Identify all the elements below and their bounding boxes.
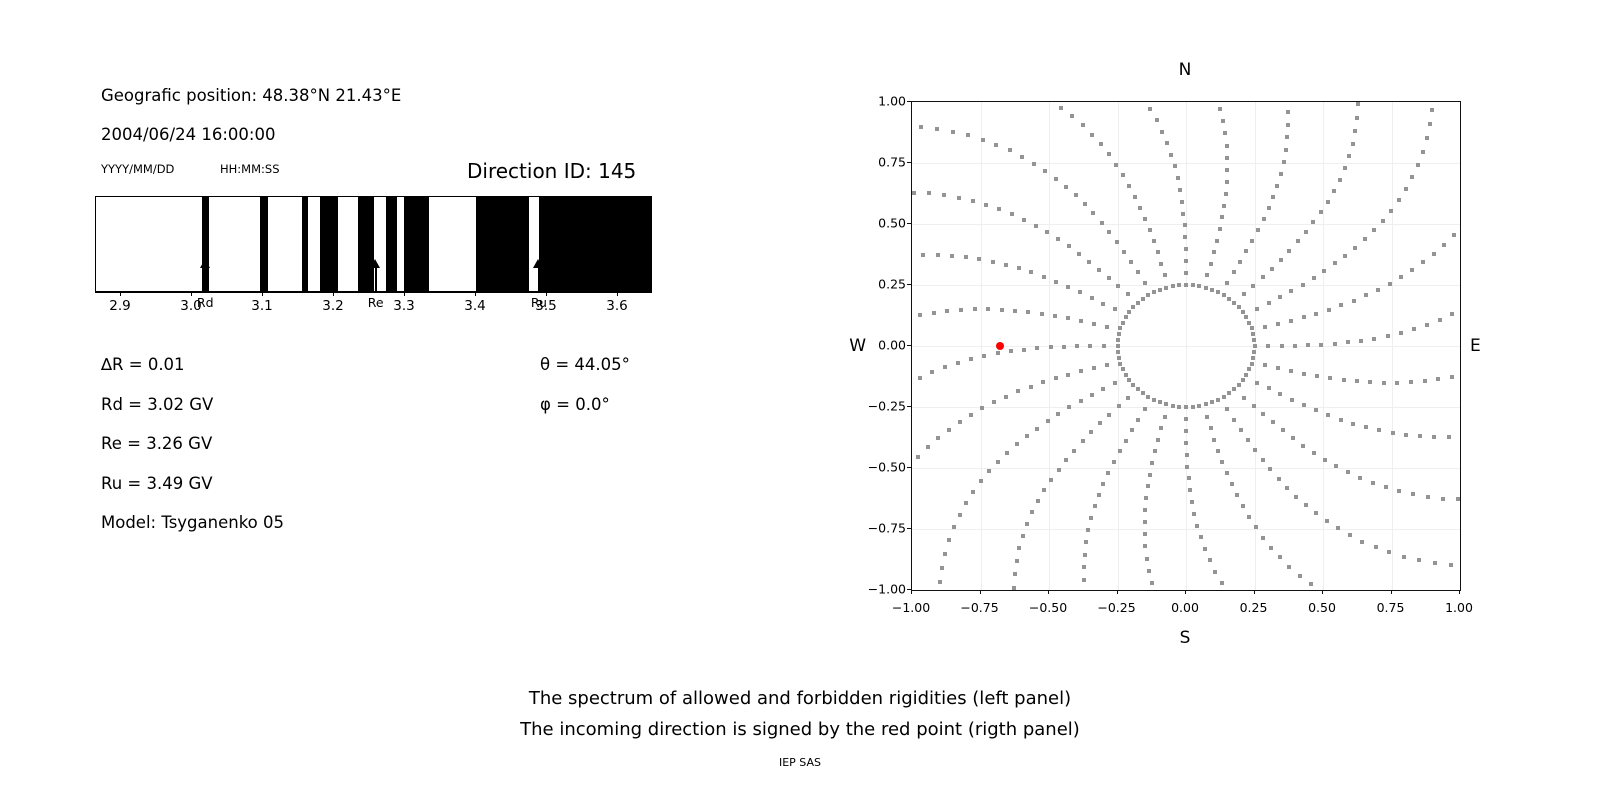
- direction-dot: [1025, 434, 1029, 438]
- direction-dot: [956, 361, 960, 365]
- x-axis-tick-mark: [1048, 590, 1049, 594]
- direction-dot: [1333, 342, 1337, 346]
- direction-dot: [1218, 107, 1222, 111]
- direction-dot: [1062, 345, 1066, 349]
- direction-dot: [947, 428, 951, 432]
- direction-dot: [1278, 555, 1282, 559]
- direction-dot: [1143, 281, 1147, 285]
- direction-dot: [1143, 508, 1147, 512]
- direction-dot: [1421, 260, 1425, 264]
- direction-dot: [1388, 282, 1392, 286]
- x-axis-tick-label: −0.75: [960, 600, 998, 615]
- direction-dot: [1364, 293, 1368, 297]
- direction-dot: [1389, 209, 1393, 213]
- direction-dot: [1266, 344, 1270, 348]
- direction-dot: [950, 254, 954, 258]
- direction-dot: [1280, 344, 1284, 348]
- direction-dot: [1255, 381, 1259, 385]
- direction-dot: [1426, 495, 1430, 499]
- direction-dot: [969, 413, 973, 417]
- direction-dot: [1121, 321, 1125, 325]
- direction-dot: [1036, 499, 1040, 503]
- rigidity-spectrum-panel: Geografic position: 48.38°N 21.43°E 2004…: [0, 0, 760, 660]
- y-axis-tick-mark: [907, 345, 911, 346]
- direction-dot: [1129, 260, 1133, 264]
- direction-dot: [1450, 375, 1454, 379]
- direction-dot: [1141, 297, 1145, 301]
- direction-dot: [1131, 305, 1135, 309]
- direction-dot: [1136, 301, 1140, 305]
- direction-dot: [1277, 477, 1281, 481]
- caption-line-1: The spectrum of allowed and forbidden ri…: [0, 688, 1600, 709]
- direction-dot: [1250, 326, 1254, 330]
- direction-dot: [1432, 435, 1436, 439]
- direction-dot: [1360, 540, 1364, 544]
- direction-dot: [935, 127, 939, 131]
- direction-dot: [1107, 152, 1111, 156]
- direction-dot: [1261, 458, 1265, 462]
- direction-dot: [1397, 489, 1401, 493]
- direction-dot: [1213, 570, 1217, 574]
- direction-dot: [1425, 323, 1429, 327]
- footer-label: IEP SAS: [0, 756, 1600, 769]
- direction-dot: [1136, 387, 1140, 391]
- direction-dot: [1079, 319, 1083, 323]
- direction-dot: [1348, 533, 1352, 537]
- direction-dot: [1195, 524, 1199, 528]
- direction-dot: [1049, 345, 1053, 349]
- direction-dot: [1205, 273, 1209, 277]
- direction-dot: [1009, 349, 1013, 353]
- x-axis-tick-label: 0.00: [1171, 600, 1199, 615]
- direction-dot: [1246, 438, 1250, 442]
- direction-dot: [936, 253, 940, 257]
- direction-dot: [1371, 481, 1375, 485]
- direction-dot: [1376, 288, 1380, 292]
- direction-dot: [1241, 310, 1245, 314]
- forbidden-band: [320, 197, 338, 291]
- direction-dot: [1293, 344, 1297, 348]
- direction-dot: [1116, 284, 1120, 288]
- direction-dot: [1438, 318, 1442, 322]
- time-format-hint: HH:MM:SS: [220, 162, 280, 176]
- direction-dot: [1220, 460, 1224, 464]
- direction-dot: [1263, 325, 1267, 329]
- direction-dot: [1430, 108, 1434, 112]
- direction-dot: [1053, 314, 1057, 318]
- direction-dot: [1066, 285, 1070, 289]
- direction-dot: [1215, 239, 1219, 243]
- direction-dot: [1112, 460, 1116, 464]
- y-axis-tick-mark: [907, 162, 911, 163]
- spectrum-bar-container: [95, 196, 652, 292]
- direction-dot: [1241, 504, 1245, 508]
- direction-dot: [952, 525, 956, 529]
- param-phi: φ = 0.0°: [540, 395, 610, 414]
- direction-dot: [1121, 367, 1125, 371]
- direction-dot: [1351, 422, 1355, 426]
- direction-dot: [1079, 369, 1083, 373]
- direction-dot: [1148, 473, 1152, 477]
- direction-dot: [1404, 433, 1408, 437]
- direction-dot: [1126, 292, 1130, 296]
- direction-dot: [1281, 428, 1285, 432]
- direction-dot: [1268, 467, 1272, 471]
- direction-dot: [1382, 381, 1386, 385]
- x-axis-tick-label: −0.50: [1029, 600, 1067, 615]
- direction-dot: [1368, 380, 1372, 384]
- direction-dot: [1304, 503, 1308, 507]
- direction-dot: [1343, 166, 1347, 170]
- direction-dot: [1363, 237, 1367, 241]
- direction-dot: [1169, 153, 1173, 157]
- direction-dot: [1054, 280, 1058, 284]
- direction-dot: [1181, 212, 1185, 216]
- direction-dot: [1081, 439, 1085, 443]
- direction-dot: [1296, 239, 1300, 243]
- direction-dot: [1255, 307, 1259, 311]
- x-axis-tick-label: −1.00: [892, 600, 930, 615]
- param-delta-r: ∆R = 0.01: [101, 355, 185, 374]
- direction-dot: [1106, 471, 1110, 475]
- y-axis-tick-label: 1.00: [878, 94, 906, 109]
- direction-dot: [1176, 176, 1180, 180]
- direction-dot: [1117, 404, 1121, 408]
- direction-dot: [997, 207, 1001, 211]
- direction-dot: [1101, 482, 1105, 486]
- direction-dot: [1284, 148, 1288, 152]
- direction-dot: [1197, 404, 1201, 408]
- direction-dot: [1339, 418, 1343, 422]
- direction-dot: [1192, 512, 1196, 516]
- direction-dot: [943, 365, 947, 369]
- direction-dot: [1278, 392, 1282, 396]
- direction-dot: [1359, 339, 1363, 343]
- direction-dot: [1210, 288, 1214, 292]
- direction-dot: [1092, 366, 1096, 370]
- direction-dot: [1235, 493, 1239, 497]
- rigidity-marker-label: Re: [368, 295, 384, 310]
- direction-dot: [1143, 407, 1147, 411]
- forbidden-band: [404, 197, 414, 291]
- direction-dot: [1118, 326, 1122, 330]
- direction-dot: [1232, 270, 1236, 274]
- direction-dot: [1084, 540, 1088, 544]
- direction-dot: [1083, 202, 1087, 206]
- direction-dot: [1225, 281, 1229, 285]
- direction-dot: [1131, 383, 1135, 387]
- direction-dot: [1244, 315, 1248, 319]
- direction-dot: [1285, 486, 1289, 490]
- direction-dot: [1012, 586, 1016, 590]
- direction-dot: [1410, 268, 1414, 272]
- direction-dot: [1399, 331, 1403, 335]
- direction-dot: [1279, 172, 1283, 176]
- direction-dot: [1171, 404, 1175, 408]
- direction-dot: [1143, 532, 1147, 536]
- direction-dot: [1090, 393, 1094, 397]
- direction-dot: [1333, 261, 1337, 265]
- direction-dot: [1107, 413, 1111, 417]
- direction-dot: [1124, 315, 1128, 319]
- x-axis-tick-mark: [1459, 590, 1460, 594]
- direction-dot: [1402, 555, 1406, 559]
- direction-dot: [1208, 558, 1212, 562]
- direction-dot: [1136, 418, 1140, 422]
- direction-dot: [1355, 379, 1359, 383]
- direction-dot: [1035, 427, 1039, 431]
- direction-dot: [1034, 224, 1038, 228]
- direction-dot: [1197, 284, 1201, 288]
- direction-dot: [1428, 122, 1432, 126]
- direction-dot: [1347, 154, 1351, 158]
- direction-dot: [1216, 449, 1220, 453]
- direction-dot: [1306, 343, 1310, 347]
- direction-dot: [1374, 545, 1378, 549]
- param-ru: Ru = 3.49 GV: [101, 474, 213, 493]
- direction-dot: [1425, 136, 1429, 140]
- direction-dot: [1355, 116, 1359, 120]
- direction-dot: [1346, 470, 1350, 474]
- direction-dot: [1377, 428, 1381, 432]
- direction-dot: [943, 552, 947, 556]
- direction-dot: [1008, 148, 1012, 152]
- angle-list: θ = 44.05°φ = 0.0°: [540, 355, 740, 435]
- direction-dot: [1059, 106, 1063, 110]
- direction-dot: [1325, 519, 1329, 523]
- direction-dot: [1081, 123, 1085, 127]
- direction-dot: [1159, 262, 1163, 266]
- direction-dot: [1107, 230, 1111, 234]
- direction-dot: [1105, 363, 1109, 367]
- param-re: Re = 3.26 GV: [101, 434, 212, 453]
- direction-dot: [1314, 312, 1318, 316]
- direction-dot: [1075, 344, 1079, 348]
- direction-dot: [971, 199, 975, 203]
- direction-dot: [1242, 396, 1246, 400]
- direction-dot: [1115, 240, 1119, 244]
- direction-dot: [1099, 142, 1103, 146]
- direction-dot: [1209, 426, 1213, 430]
- direction-dot: [1250, 362, 1254, 366]
- direction-dot: [1232, 301, 1236, 305]
- direction-dot: [1452, 233, 1456, 237]
- direction-dot: [1188, 488, 1192, 492]
- direction-dot: [1029, 385, 1033, 389]
- y-axis-tick-label: −0.50: [868, 460, 906, 475]
- direction-dot: [1342, 378, 1346, 382]
- direction-dot: [1412, 327, 1416, 331]
- direction-dot: [1289, 319, 1293, 323]
- direction-dot: [1269, 546, 1273, 550]
- direction-dot: [1289, 289, 1293, 293]
- direction-dot: [1152, 239, 1156, 243]
- direction-dot: [1372, 337, 1376, 341]
- direction-dot: [1441, 497, 1445, 501]
- direction-dot: [1148, 228, 1152, 232]
- direction-dot: [1410, 175, 1414, 179]
- direction-dot: [1256, 228, 1260, 232]
- direction-dot: [1100, 221, 1104, 225]
- direction-dot: [1127, 378, 1131, 382]
- direction-dot: [1026, 310, 1030, 314]
- direction-dot: [1409, 380, 1413, 384]
- direction-dot: [1404, 187, 1408, 191]
- direction-dot: [951, 130, 955, 134]
- direction-dot: [991, 260, 995, 264]
- direction-dot: [981, 138, 985, 142]
- direction-dot: [1010, 212, 1014, 216]
- direction-dot: [1116, 344, 1120, 348]
- direction-dot: [1035, 346, 1039, 350]
- direction-dot: [1302, 403, 1306, 407]
- x-axis-tick-label: 0.75: [1377, 600, 1405, 615]
- direction-dot: [1090, 296, 1094, 300]
- direction-dot: [1090, 133, 1094, 137]
- direction-dot: [1326, 413, 1330, 417]
- y-axis-tick-label: 0.00: [878, 338, 906, 353]
- direction-dot: [1067, 244, 1071, 248]
- rigidity-spectrum-bar: [95, 196, 652, 292]
- x-axis-tick-mark: [1322, 590, 1323, 594]
- direction-dot: [1054, 177, 1058, 181]
- direction-dot: [1447, 435, 1451, 439]
- direction-dot: [1184, 259, 1188, 263]
- direction-dot: [1143, 217, 1147, 221]
- direction-dot: [926, 445, 930, 449]
- direction-dot: [1253, 448, 1257, 452]
- y-axis-tick-label: −0.75: [868, 521, 906, 536]
- direction-dot: [1302, 372, 1306, 376]
- direction-dot: [1311, 220, 1315, 224]
- direction-dot: [1456, 497, 1460, 501]
- direction-dot: [1141, 391, 1145, 395]
- x-axis-tick-label: 1.00: [1445, 600, 1473, 615]
- y-axis-tick-label: 0.50: [878, 216, 906, 231]
- y-axis-tick-mark: [907, 284, 911, 285]
- direction-dot: [1146, 484, 1150, 488]
- direction-dot: [1126, 396, 1130, 400]
- direction-dot: [1252, 338, 1256, 342]
- arrow-shaft: [538, 265, 539, 293]
- direction-dot: [996, 460, 1000, 464]
- direction-dot: [1212, 250, 1216, 254]
- direction-dot: [938, 580, 942, 584]
- direction-dot: [1252, 404, 1256, 408]
- direction-dot: [1241, 378, 1245, 382]
- direction-dot: [1222, 395, 1226, 399]
- direction-dot: [1150, 461, 1154, 465]
- direction-dot: [1171, 284, 1175, 288]
- direction-dot: [1097, 268, 1101, 272]
- x-axis-tick-mark: [1254, 590, 1255, 594]
- direction-dot: [986, 307, 990, 311]
- direction-dot: [1252, 350, 1256, 354]
- direction-dot: [1124, 439, 1128, 443]
- arrow-shaft: [375, 265, 376, 293]
- direction-dot: [1309, 582, 1313, 586]
- direction-dot: [1387, 550, 1391, 554]
- forbidden-band: [260, 197, 268, 291]
- direction-dot: [1116, 338, 1120, 342]
- direction-dot: [1261, 536, 1265, 540]
- direction-dot: [1334, 464, 1338, 468]
- direction-dot: [1020, 155, 1024, 159]
- direction-dot: [1173, 164, 1177, 168]
- arrival-direction-panel: −1.00−0.75−0.50−0.250.000.250.500.751.00…: [830, 50, 1530, 650]
- direction-dot: [1199, 535, 1203, 539]
- direction-dot: [1222, 293, 1226, 297]
- direction-dot: [1221, 119, 1225, 123]
- direction-dot: [1049, 478, 1053, 482]
- direction-dot: [1022, 218, 1026, 222]
- direction-dot: [1191, 283, 1195, 287]
- direction-dot: [1433, 561, 1437, 565]
- direction-dot: [918, 313, 922, 317]
- direction-dot: [1251, 332, 1255, 336]
- direction-dot: [1177, 405, 1181, 409]
- direction-dot: [1304, 230, 1308, 234]
- direction-dot: [1423, 379, 1427, 383]
- direction-dot: [1346, 340, 1350, 344]
- x-axis-tick-mark: [1185, 590, 1186, 594]
- direction-dot: [1093, 504, 1097, 508]
- y-axis-tick-label: −1.00: [868, 582, 906, 597]
- direction-dot: [1356, 102, 1360, 106]
- direction-dot: [1066, 373, 1070, 377]
- direction-dot: [1114, 163, 1118, 167]
- direction-dot: [964, 255, 968, 259]
- direction-dot: [932, 311, 936, 315]
- direction-dot: [1220, 581, 1224, 585]
- direction-dot: [1102, 344, 1106, 348]
- direction-dot: [1155, 118, 1159, 122]
- direction-dot: [1323, 458, 1327, 462]
- direction-dot: [1326, 200, 1330, 204]
- direction-dot: [992, 400, 996, 404]
- direction-dot: [1225, 180, 1229, 184]
- direction-dot: [1097, 493, 1101, 497]
- direction-dot: [1180, 200, 1184, 204]
- direction-dot: [1279, 258, 1283, 262]
- direction-dot: [1183, 235, 1187, 239]
- direction-dot: [1087, 260, 1091, 264]
- spectrum-markers: RdReRu: [95, 292, 652, 352]
- direction-dot: [1301, 444, 1305, 448]
- direction-dot: [1223, 131, 1227, 135]
- direction-dot: [1312, 276, 1316, 280]
- arrow-shaft: [205, 265, 206, 293]
- direction-dot: [958, 420, 962, 424]
- direction-dot: [1287, 249, 1291, 253]
- direction-dot: [1056, 412, 1060, 416]
- forbidden-band: [539, 197, 652, 291]
- direction-dot: [1118, 449, 1122, 453]
- direction-dot: [1225, 168, 1229, 172]
- direction-dot: [1077, 252, 1081, 256]
- direction-dot: [1156, 250, 1160, 254]
- direction-dot: [1101, 387, 1105, 391]
- direction-dot: [1227, 391, 1231, 395]
- direction-dot: [1046, 419, 1050, 423]
- forbidden-band: [386, 197, 397, 291]
- direction-dot: [1242, 292, 1246, 296]
- direction-dot: [1244, 249, 1248, 253]
- direction-dot: [1101, 302, 1105, 306]
- direction-dot: [1013, 572, 1017, 576]
- direction-dot: [969, 357, 973, 361]
- direction-dot: [977, 257, 981, 261]
